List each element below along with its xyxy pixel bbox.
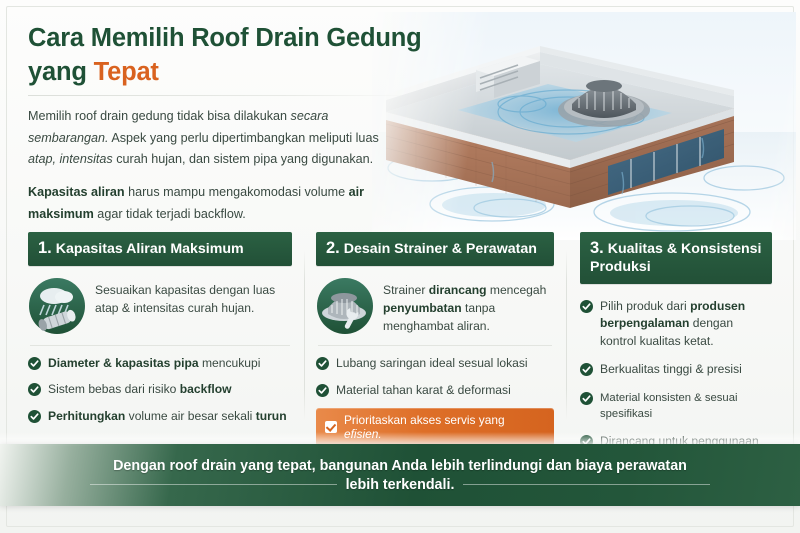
card-kapasitas-aliran: 1. Kapasitas Aliran Maksimum [28,232,304,426]
card-2-divider [318,345,552,346]
title-line-2-plain: yang [28,58,94,86]
card-1-divider [30,345,290,346]
check-circle-icon [580,392,593,405]
card-3-title: Kualitas & Konsistensi Produksi [590,241,761,275]
list-item: Pilih produk dari produsen berpengalaman… [580,298,772,351]
card-1-lead-row: Sesuaikan kapasitas dengan luas atap & i… [28,277,292,335]
card-desain-strainer: 2. Desain Strainer & Perawatan [304,232,566,426]
page-title: Cara Memilih Roof Drain Gedung yang Tepa… [28,22,428,89]
list-item-text: Sistem bebas dari risiko backflow [48,381,232,399]
check-circle-icon [316,384,329,397]
footer-line-2-row: lebih terkendali. [90,477,710,493]
footer-rule-left [90,484,337,485]
card-divider-2 [566,250,567,420]
check-circle-icon [28,383,41,396]
card-1-lead-text: Sesuaikan kapasitas dengan luas atap & i… [95,277,292,317]
card-2-header: 2. Desain Strainer & Perawatan [316,232,554,266]
list-item-text: Pilih produk dari produsen berpengalaman… [600,298,772,351]
list-item-text: Material konsisten & sesuai spesifikasi [600,390,772,423]
title-line-1: Cara Memilih Roof Drain Gedung [28,24,422,52]
footer-line-1: Dengan roof drain yang tepat, bangunan A… [113,458,687,474]
card-2-title: Desain Strainer & Perawatan [344,241,537,257]
list-item: Material konsisten & sesuai spesifikasi [580,390,772,423]
list-item-text: Lubang saringan ideal sesual lokasi [336,355,528,373]
strainer-wrench-icon [316,277,374,335]
intro-text: Memilih roof drain gedung tidak bisa dil… [28,106,410,225]
intro-paragraph-2: Kapasitas aliran harus mampu mengakomoda… [28,182,410,225]
card-2-lead-row: Strainer dirancang mencegah penyumbatan … [316,277,554,335]
check-circle-icon [316,357,329,370]
footer-banner: Dengan roof drain yang tepat, bangunan A… [0,444,800,506]
list-item-text: Diameter & kapasitas pipa mencukupi [48,355,260,373]
card-1-title: Kapasitas Aliran Maksimum [56,241,244,257]
list-item-text: Perhitungkan volume air besar sekali tur… [48,408,287,426]
card-3-header: 3. Kualitas & Konsistensi Produksi [580,232,772,284]
title-divider [28,95,408,96]
card-2-bullets: Lubang saringan ideal sesual lokasi Mate… [316,355,554,399]
list-item-text: Berkualitas tinggi & presisi [600,361,742,379]
list-item-text: Material tahan karat & deformasi [336,382,511,400]
list-item: Lubang saringan ideal sesual lokasi [316,355,554,373]
footer-area: Dengan roof drain yang tepat, bangunan A… [0,432,800,533]
infographic-page: Cara Memilih Roof Drain Gedung yang Tepa… [0,0,800,533]
card-2-lead-text: Strainer dirancang mencegah penyumbatan … [383,277,554,335]
list-item: Material tahan karat & deformasi [316,382,554,400]
rain-cloud-pipe-icon [28,277,86,335]
roof-drain-illustration [372,12,796,240]
intro-paragraph-1: Memilih roof drain gedung tidak bisa dil… [28,106,410,171]
check-circle-icon [580,363,593,376]
footer-line-2: lebih terkendali. [337,477,464,493]
cards-row: 1. Kapasitas Aliran Maksimum [28,232,772,426]
list-item: Diameter & kapasitas pipa mencukupi [28,355,292,373]
check-circle-icon [28,357,41,370]
check-circle-icon [580,300,593,313]
card-divider-1 [304,250,305,420]
check-circle-icon [28,410,41,423]
card-2-number: 2. [326,239,340,257]
list-item: Perhitungkan volume air besar sekali tur… [28,408,292,426]
card-1-bullets: Diameter & kapasitas pipa mencukupi Sist… [28,355,292,426]
card-1-number: 1. [38,239,52,257]
footer-rule-right [463,484,710,485]
title-line-2-accent: Tepat [94,58,159,86]
list-item: Berkualitas tinggi & presisi [580,361,772,379]
list-item: Sistem bebas dari risiko backflow [28,381,292,399]
card-kualitas-konsistensi: 3. Kualitas & Konsistensi Produksi Pilih… [566,232,772,426]
card-3-number: 3. [590,239,604,257]
card-1-header: 1. Kapasitas Aliran Maksimum [28,232,292,266]
